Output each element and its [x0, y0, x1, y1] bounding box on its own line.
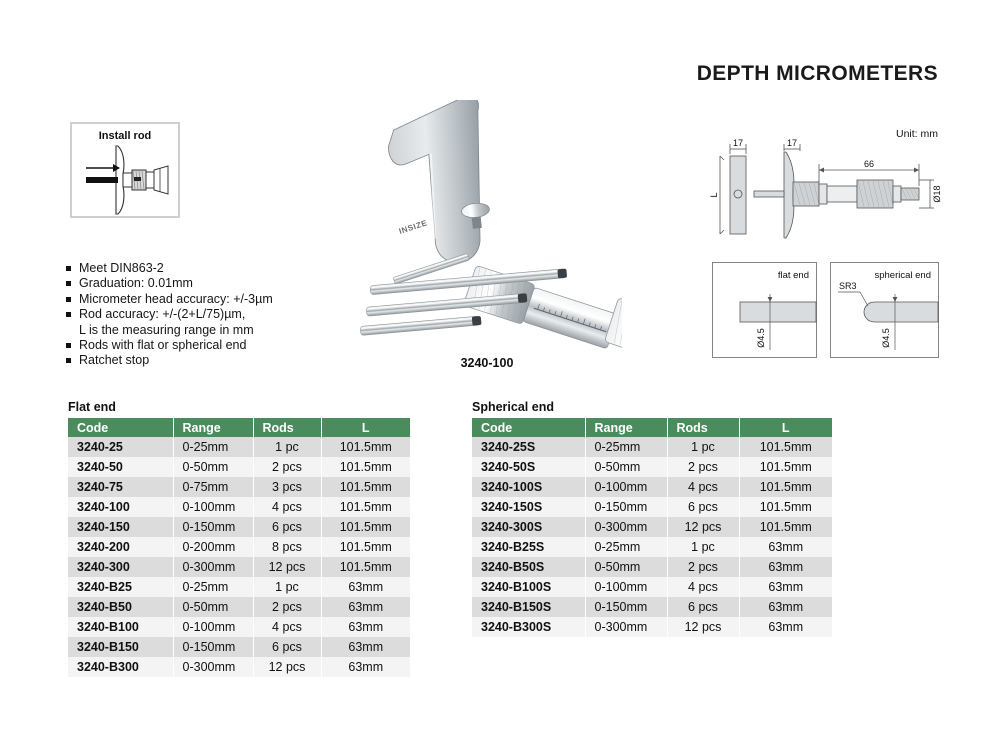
table-header-row: Code Range Rods L — [68, 418, 410, 437]
cell-range: 0-100mm — [173, 617, 253, 637]
cell-rods: 2 pcs — [253, 457, 321, 477]
column-header-l: L — [321, 418, 410, 437]
cell-code: 3240-B150 — [68, 637, 173, 657]
cell-code: 3240-200 — [68, 537, 173, 557]
spherical-end-diameter: Ø4.5 — [881, 328, 891, 348]
cell-rods: 1 pc — [667, 437, 739, 457]
cell-code: 3240-25 — [68, 437, 173, 457]
cell-range: 0-150mm — [585, 597, 667, 617]
spherical-end-table-body: 3240-25S0-25mm1 pc101.5mm3240-50S0-50mm2… — [472, 437, 832, 637]
flat-end-table-block: Flat end Code Range Rods L 3240-250-25mm… — [68, 400, 410, 677]
column-header-code: Code — [68, 418, 173, 437]
rod-end-detail-diagrams: flat end Ø4.5 spherical end SR3 Ø4.5 — [712, 262, 940, 358]
flat-end-detail: flat end Ø4.5 — [713, 263, 817, 358]
cell-rods: 12 pcs — [667, 617, 739, 637]
table-row: 3240-750-75mm3 pcs101.5mm — [68, 477, 410, 497]
cell-l: 101.5mm — [321, 557, 410, 577]
cell-range: 0-100mm — [173, 497, 253, 517]
cell-range: 0-25mm — [585, 537, 667, 557]
table-row: 3240-B25S0-25mm1 pc63mm — [472, 537, 832, 557]
flat-end-diameter: Ø4.5 — [756, 328, 766, 348]
cell-range: 0-100mm — [585, 477, 667, 497]
cell-code: 3240-B25 — [68, 577, 173, 597]
cell-l: 101.5mm — [739, 477, 832, 497]
cell-range: 0-150mm — [173, 637, 253, 657]
cell-rods: 2 pcs — [667, 557, 739, 577]
cell-range: 0-50mm — [173, 597, 253, 617]
cell-rods: 2 pcs — [253, 597, 321, 617]
flat-end-title: flat end — [778, 270, 809, 281]
cell-code: 3240-75 — [68, 477, 173, 497]
table-row: 3240-1000-100mm4 pcs101.5mm — [68, 497, 410, 517]
cell-l: 63mm — [739, 597, 832, 617]
list-item: Meet DIN863-2 — [64, 261, 374, 276]
column-header-rods: Rods — [253, 418, 321, 437]
table-row: 3240-B100S0-100mm4 pcs63mm — [472, 577, 832, 597]
cell-range: 0-100mm — [585, 577, 667, 597]
cell-range: 0-300mm — [173, 557, 253, 577]
cell-rods: 3 pcs — [253, 477, 321, 497]
extension-rod — [360, 316, 480, 335]
table-row: 3240-300S0-300mm12 pcs101.5mm — [472, 517, 832, 537]
product-caption: 3240-100 — [352, 356, 622, 370]
cell-range: 0-150mm — [585, 497, 667, 517]
table-row: 3240-B50S0-50mm2 pcs63mm — [472, 557, 832, 577]
spherical-end-radius: SR3 — [839, 281, 857, 291]
spherical-end-detail: spherical end SR3 Ø4.5 — [831, 263, 939, 358]
table-row: 3240-25S0-25mm1 pc101.5mm — [472, 437, 832, 457]
cell-l: 63mm — [739, 557, 832, 577]
table-row: 3240-B150S0-150mm6 pcs63mm — [472, 597, 832, 617]
flat-end-table: Code Range Rods L 3240-250-25mm1 pc101.5… — [68, 418, 410, 677]
cell-l: 101.5mm — [321, 477, 410, 497]
cell-l: 63mm — [321, 597, 410, 617]
cell-l: 63mm — [321, 637, 410, 657]
list-item: Ratchet stop — [64, 353, 374, 368]
arrow-right-icon — [86, 164, 120, 172]
spherical-end-title: spherical end — [874, 270, 931, 281]
install-rod-diagram: Install rod — [70, 122, 180, 218]
dim-head-width: 17 — [787, 138, 797, 148]
cell-l: 63mm — [321, 617, 410, 637]
table-row: 3240-3000-300mm12 pcs101.5mm — [68, 557, 410, 577]
cell-l: 101.5mm — [739, 437, 832, 457]
install-rod-illustration — [72, 142, 182, 218]
cell-code: 3240-B50 — [68, 597, 173, 617]
table-row: 3240-B1000-100mm4 pcs63mm — [68, 617, 410, 637]
dim-length: 66 — [864, 159, 874, 169]
table-row: 3240-500-50mm2 pcs101.5mm — [68, 457, 410, 477]
cell-rods: 4 pcs — [667, 577, 739, 597]
cell-l: 101.5mm — [739, 457, 832, 477]
depth-micrometer-photo: INSIZE — [352, 100, 622, 355]
cell-l: 63mm — [739, 537, 832, 557]
cell-range: 0-50mm — [585, 457, 667, 477]
product-figure: INSIZE 3240-100 — [352, 100, 622, 385]
cell-code: 3240-300 — [68, 557, 173, 577]
table-header-row: Code Range Rods L — [472, 418, 832, 437]
dimension-drawing: 17 17 66 L Ø18 — [700, 138, 950, 248]
cell-rods: 6 pcs — [253, 517, 321, 537]
table-row: 3240-250-25mm1 pc101.5mm — [68, 437, 410, 457]
cell-rods: 1 pc — [253, 437, 321, 457]
column-header-rods: Rods — [667, 418, 739, 437]
flat-end-table-caption: Flat end — [68, 400, 410, 414]
column-header-range: Range — [585, 418, 667, 437]
dim-diameter: Ø18 — [932, 185, 942, 202]
cell-rods: 2 pcs — [667, 457, 739, 477]
list-item: Rod accuracy: +/-(2+L/75)µm, L is the me… — [64, 307, 374, 338]
cell-range: 0-300mm — [585, 517, 667, 537]
brand-mark: INSIZE — [398, 218, 429, 236]
cell-code: 3240-300S — [472, 517, 585, 537]
cell-code: 3240-100S — [472, 477, 585, 497]
list-item: Rods with flat or spherical end — [64, 338, 374, 353]
cell-range: 0-200mm — [173, 537, 253, 557]
cell-rods: 1 pc — [667, 537, 739, 557]
table-row: 3240-B500-50mm2 pcs63mm — [68, 597, 410, 617]
column-header-l: L — [739, 418, 832, 437]
cell-code: 3240-B150S — [472, 597, 585, 617]
column-header-code: Code — [472, 418, 585, 437]
cell-range: 0-25mm — [173, 577, 253, 597]
cell-range: 0-300mm — [173, 657, 253, 677]
table-row: 3240-2000-200mm8 pcs101.5mm — [68, 537, 410, 557]
cell-code: 3240-50 — [68, 457, 173, 477]
cell-code: 3240-B100 — [68, 617, 173, 637]
cell-rods: 12 pcs — [253, 557, 321, 577]
sleeve-scale — [523, 287, 618, 348]
cell-l: 101.5mm — [321, 517, 410, 537]
cell-l: 101.5mm — [321, 437, 410, 457]
spherical-end-table-block: Spherical end Code Range Rods L 3240-25S… — [472, 400, 832, 637]
cell-l: 101.5mm — [739, 497, 832, 517]
cell-l: 63mm — [739, 577, 832, 597]
cell-l: 63mm — [321, 657, 410, 677]
cell-rods: 8 pcs — [253, 537, 321, 557]
cell-code: 3240-B50S — [472, 557, 585, 577]
feature-list: Meet DIN863-2 Graduation: 0.01mm Microme… — [64, 261, 374, 369]
cell-l: 101.5mm — [321, 497, 410, 517]
cell-code: 3240-B100S — [472, 577, 585, 597]
cell-code: 3240-150S — [472, 497, 585, 517]
install-rod-title: Install rod — [72, 130, 178, 142]
cell-l: 101.5mm — [739, 517, 832, 537]
table-row: 3240-150S0-150mm6 pcs101.5mm — [472, 497, 832, 517]
dim-base-width: 17 — [733, 138, 743, 148]
cell-rods: 12 pcs — [667, 517, 739, 537]
cell-code: 3240-25S — [472, 437, 585, 457]
cell-range: 0-50mm — [173, 457, 253, 477]
list-item: Micrometer head accuracy: +/-3µm — [64, 292, 374, 307]
cell-code: 3240-50S — [472, 457, 585, 477]
table-row: 3240-B1500-150mm6 pcs63mm — [68, 637, 410, 657]
feature-list-items: Meet DIN863-2 Graduation: 0.01mm Microme… — [64, 261, 374, 369]
cell-l: 63mm — [739, 617, 832, 637]
cell-rods: 4 pcs — [253, 497, 321, 517]
cell-rods: 4 pcs — [253, 617, 321, 637]
cell-range: 0-25mm — [173, 437, 253, 457]
table-row: 3240-50S0-50mm2 pcs101.5mm — [472, 457, 832, 477]
column-header-range: Range — [173, 418, 253, 437]
spherical-end-table-caption: Spherical end — [472, 400, 832, 414]
cell-range: 0-300mm — [585, 617, 667, 637]
cell-code: 3240-B300S — [472, 617, 585, 637]
table-row: 3240-100S0-100mm4 pcs101.5mm — [472, 477, 832, 497]
cell-code: 3240-150 — [68, 517, 173, 537]
micrometer-base — [380, 100, 524, 273]
cell-l: 101.5mm — [321, 457, 410, 477]
cell-range: 0-150mm — [173, 517, 253, 537]
cell-range: 0-25mm — [585, 437, 667, 457]
cell-code: 3240-100 — [68, 497, 173, 517]
flat-end-table-body: 3240-250-25mm1 pc101.5mm3240-500-50mm2 p… — [68, 437, 410, 677]
table-row: 3240-B3000-300mm12 pcs63mm — [68, 657, 410, 677]
cell-range: 0-75mm — [173, 477, 253, 497]
cell-code: 3240-B25S — [472, 537, 585, 557]
table-row: 3240-B250-25mm1 pc63mm — [68, 577, 410, 597]
cell-rods: 6 pcs — [667, 597, 739, 617]
table-row: 3240-B300S0-300mm12 pcs63mm — [472, 617, 832, 637]
cell-rods: 6 pcs — [253, 637, 321, 657]
cell-range: 0-50mm — [585, 557, 667, 577]
cell-rods: 1 pc — [253, 577, 321, 597]
cell-rods: 12 pcs — [253, 657, 321, 677]
cell-l: 63mm — [321, 577, 410, 597]
page-title: DEPTH MICROMETERS — [697, 62, 938, 86]
cell-rods: 6 pcs — [667, 497, 739, 517]
cell-l: 101.5mm — [321, 537, 410, 557]
list-item: Graduation: 0.01mm — [64, 276, 374, 291]
cell-code: 3240-B300 — [68, 657, 173, 677]
table-row: 3240-1500-150mm6 pcs101.5mm — [68, 517, 410, 537]
cell-rods: 4 pcs — [667, 477, 739, 497]
spherical-end-table: Code Range Rods L 3240-25S0-25mm1 pc101.… — [472, 418, 832, 637]
dim-L: L — [709, 192, 719, 197]
